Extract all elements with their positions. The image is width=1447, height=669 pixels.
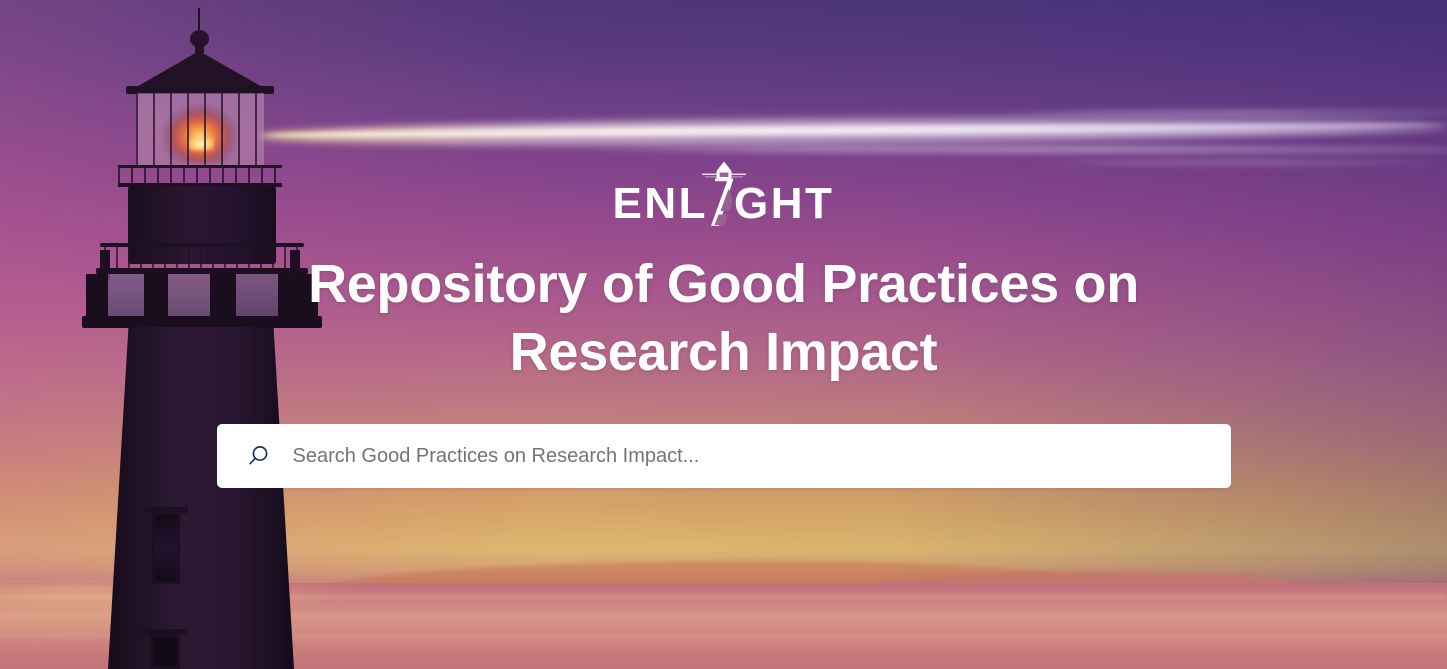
- brand-text-after: GHT: [734, 179, 834, 228]
- search-input[interactable]: [293, 424, 1231, 488]
- search-icon[interactable]: [239, 443, 277, 469]
- page-title: Repository of Good Practices on Research…: [244, 250, 1204, 386]
- hero-banner: ENLGHT Repository of Good Practices on R…: [0, 0, 1447, 669]
- lighthouse-tower-icon: [707, 180, 741, 226]
- search-bar[interactable]: [217, 424, 1231, 488]
- lighthouse-window: [150, 635, 180, 669]
- hero-content: ENLGHT Repository of Good Practices on R…: [0, 0, 1447, 488]
- lighthouse-window: [152, 512, 180, 584]
- brand-text-before: ENL: [613, 179, 709, 228]
- enlight-logo[interactable]: ENLGHT: [594, 160, 854, 232]
